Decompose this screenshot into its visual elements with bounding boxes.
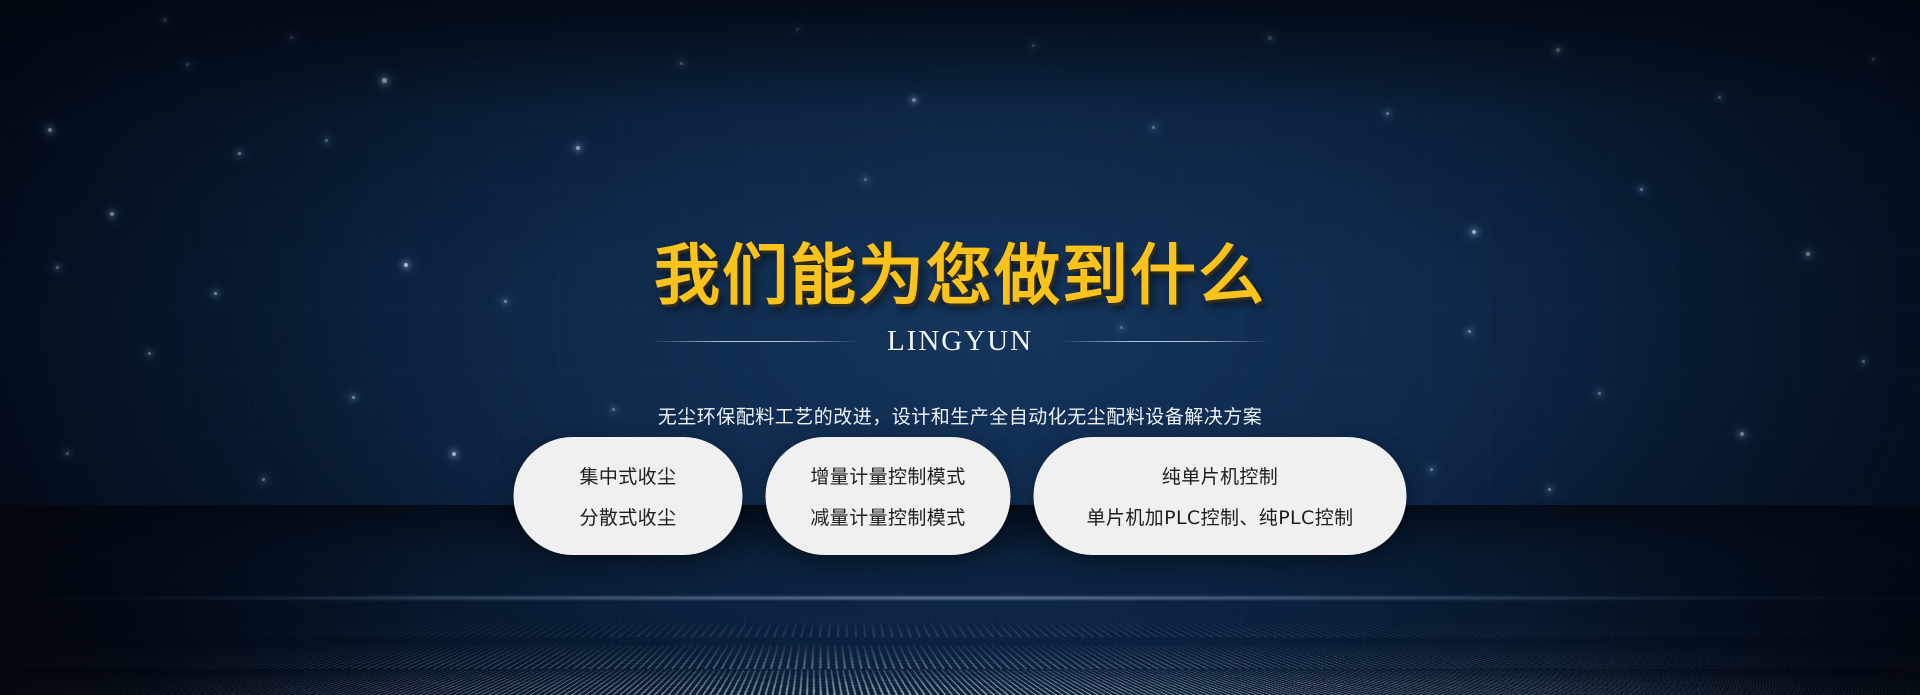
banner-content: 我们能为您做到什么 LINGYUN 无尘环保配料工艺的改进，设计和生产全自动化无… [0,0,1920,695]
feature-card-line-2: 单片机加PLC控制、纯PLC控制 [1086,503,1353,530]
feature-card-metering-mode[interactable]: 增量计量控制模式 减量计量控制模式 [766,437,1011,555]
feature-card-line-2: 减量计量控制模式 [810,503,965,530]
brand-subtitle-row: LINGYUN [650,325,1270,358]
feature-card-line-2: 分散式收尘 [579,503,676,530]
feature-card-dust-collection[interactable]: 集中式收尘 分散式收尘 [514,437,743,555]
feature-card-line-1: 增量计量控制模式 [810,462,965,489]
banner-description: 无尘环保配料工艺的改进，设计和生产全自动化无尘配料设备解决方案 [658,402,1263,429]
divider-line-right [1059,341,1270,342]
feature-card-control-system[interactable]: 纯单片机控制 单片机加PLC控制、纯PLC控制 [1034,437,1407,555]
feature-card-line-1: 集中式收尘 [579,462,676,489]
page-title: 我们能为您做到什么 [654,222,1266,318]
feature-card-line-1: 纯单片机控制 [1162,462,1278,489]
brand-name-en: LINGYUN [887,325,1033,358]
divider-line-left [650,341,861,342]
hero-banner: 我们能为您做到什么 LINGYUN 无尘环保配料工艺的改进，设计和生产全自动化无… [0,0,1920,695]
feature-card-list: 集中式收尘 分散式收尘 增量计量控制模式 减量计量控制模式 纯单片机控制 单片机… [514,437,1407,555]
